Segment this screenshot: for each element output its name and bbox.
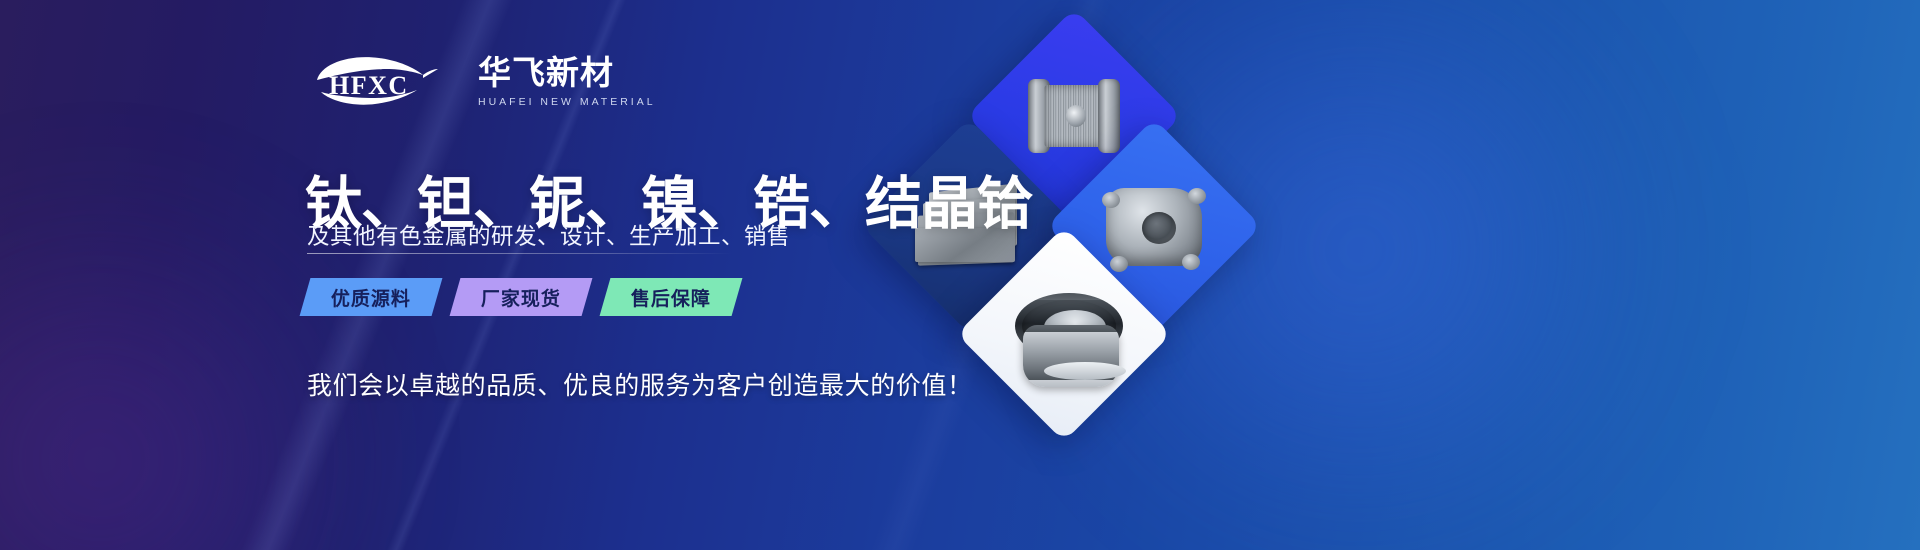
logo-name-en: HUAFEI NEW MATERIAL [478, 96, 656, 108]
hero-banner: HFXC 华飞新材 HUAFEI NEW MATERIAL 钛、钽、铌、镍、锆、… [0, 0, 1920, 550]
wire-spool-image [1026, 79, 1122, 153]
swoosh-icon: HFXC [305, 50, 470, 112]
logo-mark: HFXC [305, 50, 470, 112]
hero-content: HFXC 华飞新材 HUAFEI NEW MATERIAL 钛、钽、铌、镍、锆、… [305, 0, 985, 550]
logo-name-cn: 华飞新材 [478, 56, 656, 91]
hero-tagline: 我们会以卓越的品质、优良的服务为客户创造最大的价值！ [307, 366, 973, 402]
badge-label: 售后保障 [631, 284, 711, 311]
badge-label: 厂家现货 [481, 284, 561, 311]
brand-logo[interactable]: HFXC 华飞新材 HUAFEI NEW MATERIAL [305, 50, 656, 112]
logo-wordmark: 华飞新材 HUAFEI NEW MATERIAL [478, 54, 656, 108]
badge-label: 优质源料 [331, 284, 411, 311]
logo-abbrev-text: HFXC [329, 71, 409, 100]
badge-factory-stock[interactable]: 厂家现货 [450, 278, 593, 316]
hero-subtitle: 及其他有色金属的研发、设计、生产加工、销售 [307, 219, 790, 251]
badge-after-sales[interactable]: 售后保障 [600, 278, 743, 316]
feature-badges: 优质源料 厂家现货 售后保障 [305, 278, 755, 316]
badge-quality-source[interactable]: 优质源料 [300, 278, 443, 316]
cast-part-image [1100, 178, 1208, 274]
divider [307, 253, 732, 254]
foil-rings-image [1009, 291, 1119, 377]
